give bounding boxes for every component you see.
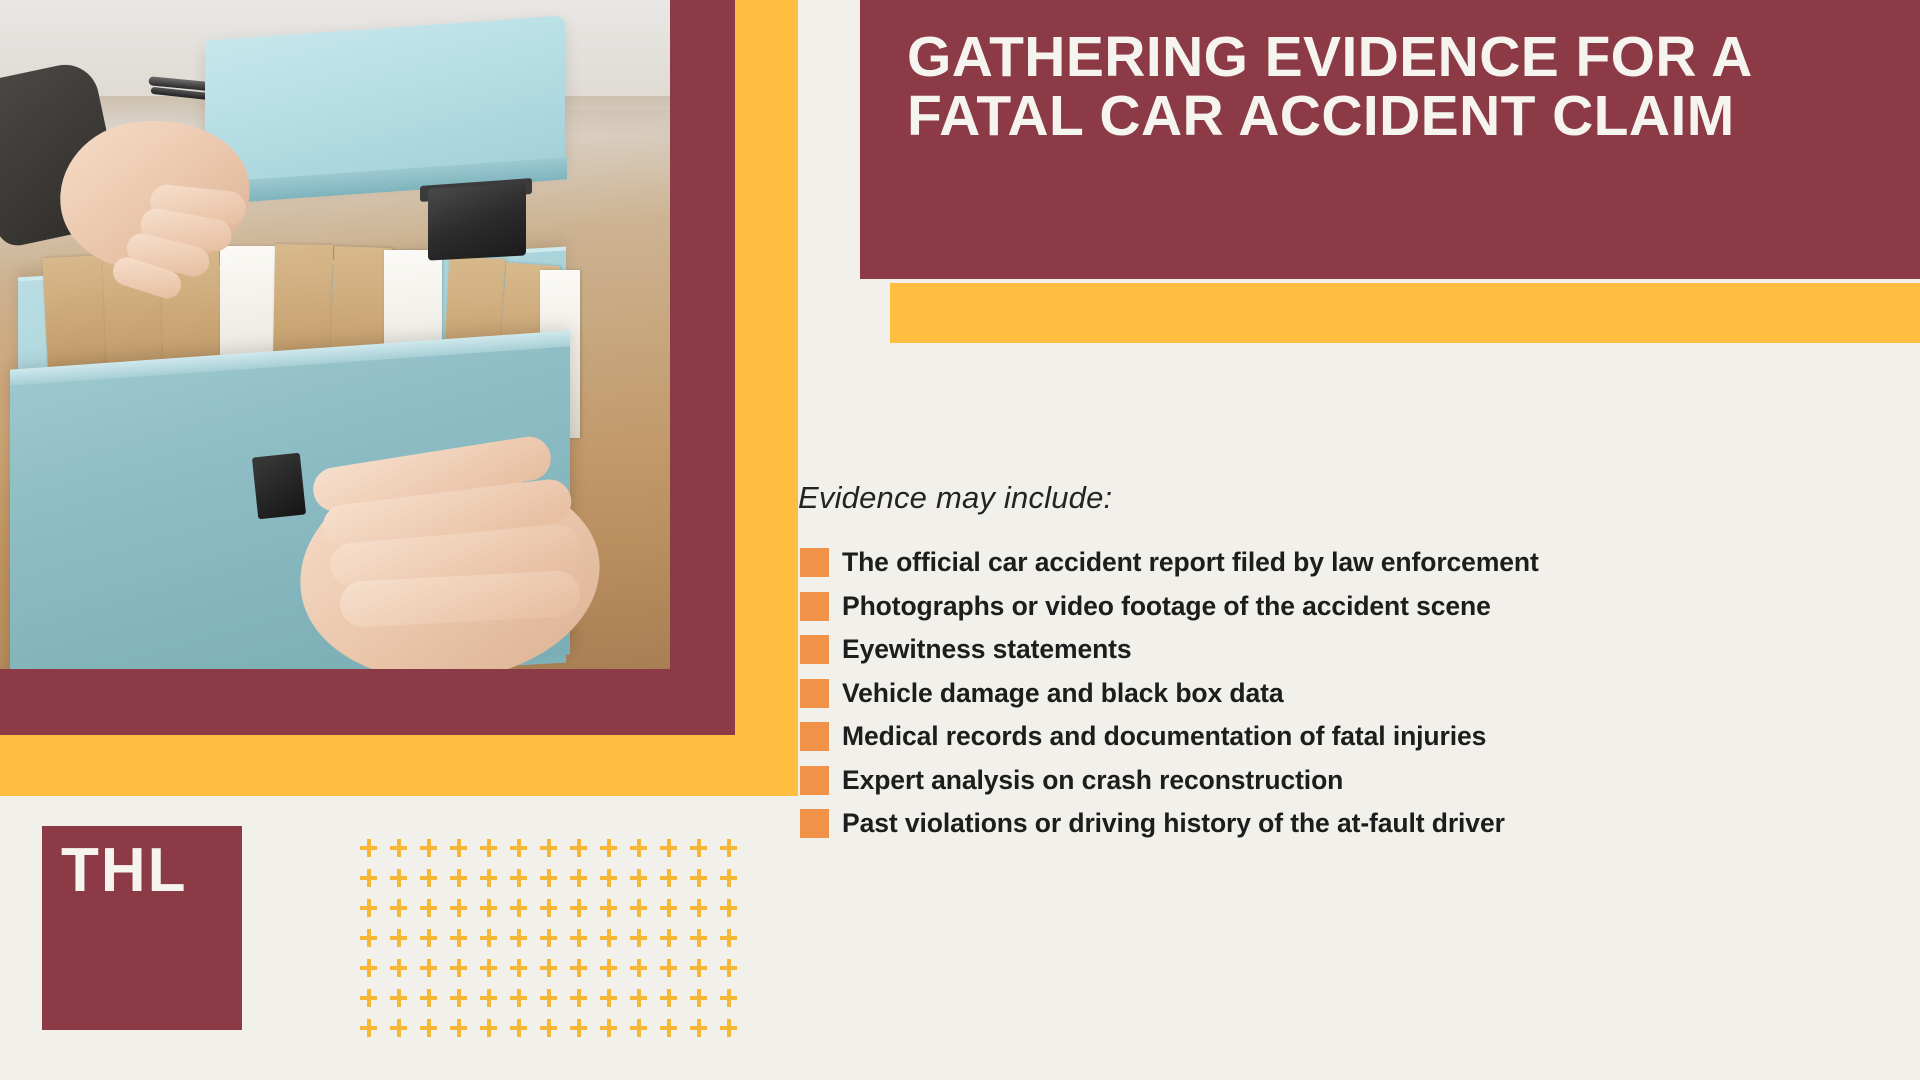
plus-icon — [563, 893, 593, 923]
plus-icon — [593, 863, 623, 893]
list-item: Expert analysis on crash reconstruction — [800, 759, 1900, 803]
plus-icon — [593, 833, 623, 863]
square-bullet-icon — [800, 809, 829, 838]
plus-icon — [443, 923, 473, 953]
plus-icon — [593, 953, 623, 983]
plus-icon — [413, 983, 443, 1013]
plus-icon — [473, 953, 503, 983]
plus-icon — [503, 923, 533, 953]
plus-icon — [503, 983, 533, 1013]
list-item-label: The official car accident report filed b… — [842, 547, 1539, 578]
plus-icon — [383, 833, 413, 863]
accent-band-right-yellow — [735, 0, 798, 796]
plus-icon — [473, 893, 503, 923]
poster-canvas: GATHERING EVIDENCE FOR A FATAL CAR ACCID… — [0, 0, 1920, 1080]
folder-clip-lower — [252, 453, 306, 520]
plus-icon — [713, 833, 743, 863]
square-bullet-icon — [800, 592, 829, 621]
list-item-label: Medical records and documentation of fat… — [842, 721, 1486, 752]
plus-icon — [503, 953, 533, 983]
evidence-lead-in: Evidence may include: — [798, 480, 1112, 516]
list-item: Medical records and documentation of fat… — [800, 715, 1900, 759]
plus-icon — [653, 893, 683, 923]
plus-icon — [353, 893, 383, 923]
plus-icon — [653, 923, 683, 953]
plus-icon — [713, 1013, 743, 1043]
page-title: GATHERING EVIDENCE FOR A FATAL CAR ACCID… — [907, 28, 1867, 145]
plus-icon — [353, 983, 383, 1013]
plus-icon — [683, 923, 713, 953]
plus-icon — [413, 953, 443, 983]
plus-icon — [533, 1013, 563, 1043]
plus-icon — [353, 923, 383, 953]
plus-icon — [593, 1013, 623, 1043]
plus-icon — [383, 893, 413, 923]
plus-icon — [473, 1013, 503, 1043]
square-bullet-icon — [800, 722, 829, 751]
plus-icon — [623, 983, 653, 1013]
plus-icon — [563, 953, 593, 983]
logo-text: THL — [61, 840, 188, 902]
accent-band-right-maroon — [670, 0, 735, 670]
plus-icon — [563, 863, 593, 893]
plus-icon — [683, 863, 713, 893]
plus-icon — [593, 923, 623, 953]
square-bullet-icon — [800, 766, 829, 795]
plus-icon — [503, 1013, 533, 1043]
plus-icon — [503, 833, 533, 863]
title-block: GATHERING EVIDENCE FOR A FATAL CAR ACCID… — [860, 0, 1920, 279]
list-item-label: Photographs or video footage of the acci… — [842, 591, 1491, 622]
plus-icon — [713, 953, 743, 983]
list-item: Past violations or driving history of th… — [800, 802, 1900, 846]
binder-clip — [428, 183, 526, 260]
plus-icon — [413, 1013, 443, 1043]
plus-icon — [623, 1013, 653, 1043]
plus-icon — [623, 833, 653, 863]
plus-icon — [653, 953, 683, 983]
plus-pattern-decoration — [353, 833, 743, 1043]
plus-icon — [713, 923, 743, 953]
plus-icon — [533, 863, 563, 893]
title-underbar — [890, 283, 1920, 343]
plus-icon — [503, 863, 533, 893]
list-item: Eyewitness statements — [800, 628, 1900, 672]
square-bullet-icon — [800, 635, 829, 664]
plus-icon — [653, 1013, 683, 1043]
plus-icon — [413, 923, 443, 953]
plus-icon — [683, 1013, 713, 1043]
plus-icon — [563, 923, 593, 953]
list-item-label: Expert analysis on crash reconstruction — [842, 765, 1343, 796]
plus-icon — [563, 983, 593, 1013]
plus-icon — [503, 893, 533, 923]
plus-icon — [473, 863, 503, 893]
plus-icon — [473, 983, 503, 1013]
plus-icon — [383, 863, 413, 893]
plus-icon — [593, 893, 623, 923]
plus-icon — [653, 863, 683, 893]
list-item: Photographs or video footage of the acci… — [800, 585, 1900, 629]
plus-icon — [593, 983, 623, 1013]
plus-icon — [443, 833, 473, 863]
list-item-label: Past violations or driving history of th… — [842, 808, 1505, 839]
plus-icon — [653, 833, 683, 863]
plus-icon — [623, 953, 653, 983]
plus-icon — [443, 953, 473, 983]
list-item-label: Eyewitness statements — [842, 634, 1132, 665]
plus-icon — [533, 953, 563, 983]
plus-icon — [623, 863, 653, 893]
evidence-photo — [0, 0, 670, 670]
plus-icon — [683, 983, 713, 1013]
plus-icon — [533, 923, 563, 953]
plus-icon — [623, 923, 653, 953]
plus-icon — [713, 983, 743, 1013]
plus-icon — [413, 863, 443, 893]
plus-icon — [533, 983, 563, 1013]
square-bullet-icon — [800, 548, 829, 577]
plus-icon — [713, 893, 743, 923]
accent-band-bottom-maroon — [0, 669, 735, 735]
plus-icon — [683, 833, 713, 863]
plus-icon — [443, 1013, 473, 1043]
plus-icon — [443, 983, 473, 1013]
plus-icon — [353, 833, 383, 863]
plus-icon — [713, 863, 743, 893]
plus-icon — [683, 953, 713, 983]
plus-icon — [563, 833, 593, 863]
plus-icon — [563, 1013, 593, 1043]
plus-icon — [473, 833, 503, 863]
plus-icon — [383, 983, 413, 1013]
square-bullet-icon — [800, 679, 829, 708]
plus-icon — [653, 983, 683, 1013]
plus-icon — [413, 893, 443, 923]
accent-band-bottom-yellow — [0, 735, 798, 796]
plus-icon — [623, 893, 653, 923]
list-item-label: Vehicle damage and black box data — [842, 678, 1283, 709]
plus-icon — [353, 1013, 383, 1043]
plus-icon — [443, 893, 473, 923]
plus-icon — [443, 863, 473, 893]
evidence-list: The official car accident report filed b… — [800, 541, 1900, 846]
plus-icon — [353, 863, 383, 893]
plus-icon — [683, 893, 713, 923]
list-item: The official car accident report filed b… — [800, 541, 1900, 585]
plus-icon — [383, 923, 413, 953]
thl-logo: THL — [42, 826, 242, 1030]
plus-icon — [473, 923, 503, 953]
plus-icon — [533, 893, 563, 923]
plus-icon — [353, 953, 383, 983]
plus-icon — [383, 1013, 413, 1043]
plus-icon — [533, 833, 563, 863]
plus-icon — [413, 833, 443, 863]
plus-icon — [383, 953, 413, 983]
list-item: Vehicle damage and black box data — [800, 672, 1900, 716]
